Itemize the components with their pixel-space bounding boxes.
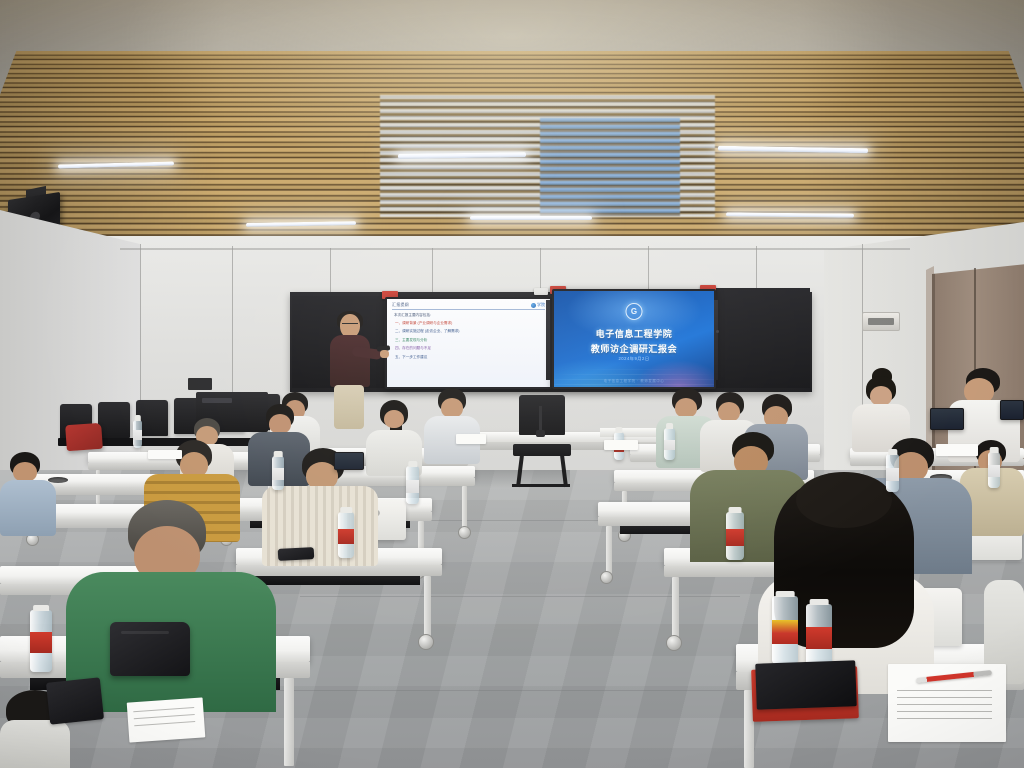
smartphone-left-desk	[278, 547, 315, 561]
ceiling-skylight-blue-reflection	[540, 118, 680, 216]
bottle-cap-icon	[33, 605, 49, 611]
doc-line	[134, 721, 195, 726]
printed-document-front-left-2	[148, 450, 182, 459]
desk-microphone-icon	[539, 406, 542, 432]
attendee-head	[675, 398, 697, 418]
bottle-label	[772, 620, 798, 643]
slide-window-title: 汇报提纲	[392, 302, 409, 308]
bottle-cap-icon	[615, 427, 622, 433]
water-bottle-sidewall	[133, 420, 142, 448]
desk-right-near-1-leg	[606, 526, 612, 574]
water-bottle-6	[886, 454, 899, 492]
laptop-right-desk	[930, 408, 964, 430]
doc-line	[897, 690, 991, 691]
bottle-label	[272, 468, 284, 480]
bottle-cap-icon	[274, 451, 283, 457]
slide-logo: 学院	[531, 302, 545, 308]
bottle-label	[338, 529, 354, 545]
water-bottle-3	[406, 466, 419, 504]
black-laptop-bag	[110, 622, 190, 676]
presenter-glasses-icon	[342, 323, 358, 328]
attendee-head	[718, 402, 740, 422]
wall-seam-3	[330, 248, 331, 294]
bottle-cap-icon	[776, 591, 795, 597]
water-bottle-10	[772, 596, 798, 664]
wall-seam-6	[648, 246, 649, 290]
bottle-label	[30, 632, 52, 653]
water-bottle-5	[726, 512, 744, 560]
bottle-label	[726, 529, 744, 545]
water-bottle-4	[272, 456, 284, 490]
attendee-front-row-mid	[984, 560, 1024, 680]
water-bottle-2	[338, 512, 354, 558]
slide-bullet-1: 一、调研背景 (产业调研与企业需求)	[395, 321, 545, 326]
printed-document-right-mid	[604, 440, 638, 450]
attendee-grey-shirt-left	[424, 388, 480, 460]
black-tablet	[755, 660, 857, 709]
desk-left-mid-2-caster	[458, 526, 471, 539]
wall-air-vent-icon	[862, 312, 900, 331]
bottle-label	[406, 480, 419, 493]
wall-seam-4	[432, 248, 433, 294]
bottle-cap-icon	[666, 423, 674, 429]
attendee-head	[441, 398, 463, 418]
bottle-label	[988, 465, 1000, 477]
slide-logo-text: 学院	[537, 302, 545, 308]
attendee-bun-hair-white	[852, 372, 910, 446]
slide-lead-text: 本次汇报主要内容包括:	[394, 313, 545, 318]
slide-logo-mark-icon	[531, 303, 536, 308]
slide-bullet-5: 五、下一步工作建议	[395, 355, 545, 360]
water-bottle-1	[30, 610, 52, 672]
presenter-hand	[380, 350, 389, 358]
doc-line	[897, 697, 991, 698]
attendee-hair-crown	[796, 472, 892, 528]
wall-horizontal-rail	[120, 248, 910, 250]
attendee-blue-left-far	[0, 452, 56, 532]
wall-mounted-av-box	[188, 378, 212, 390]
laptop-right-far	[1000, 400, 1024, 420]
display-ir-sensor-icon	[716, 330, 719, 333]
classroom-photo-scene: 汇报提纲 学院 本次汇报主要内容包括: 一、调研背景 (产业调研与企业需求) 二…	[0, 0, 1024, 768]
desk-left-mid-2-leg	[462, 486, 467, 528]
doc-line	[133, 707, 194, 712]
laptop-screen	[335, 453, 363, 469]
display-side-strip-left	[546, 300, 550, 380]
slide-footer: 电子信息工程学院 · 教师发展中心	[554, 378, 714, 383]
slide-title-line-1: 电子信息工程学院	[554, 327, 714, 340]
slide-topbar: 汇报提纲 学院	[392, 302, 545, 310]
slide-bullet-3: 三、主要发现与分析	[395, 338, 545, 343]
printed-document-bottom-left	[127, 697, 206, 742]
presenter-chair-foot-bar	[512, 484, 570, 487]
school-emblem-icon: G	[626, 303, 643, 320]
attendee-head	[13, 462, 37, 482]
board-right-panel	[714, 288, 810, 388]
title-slide: G 电子信息工程学院 教师访企调研汇报会 2024年9月2日 电子信息工程学院 …	[554, 291, 714, 387]
presenter-torso	[330, 335, 370, 387]
bottle-cap-icon	[810, 599, 829, 605]
red-bag-on-chair-icon	[65, 423, 103, 451]
attendee-torso	[0, 720, 70, 768]
attendee-head	[384, 410, 404, 428]
bottle-cap-icon	[990, 447, 999, 453]
water-bottle-7	[664, 428, 675, 460]
slide-bullet-2: 二、调研实施过程 (走访企业、了解需求)	[395, 329, 545, 334]
display-side-strip-right	[714, 300, 718, 380]
presenter-legs	[334, 385, 364, 429]
smartphone-bottom-left	[46, 677, 104, 724]
water-bottle-11	[806, 604, 832, 668]
bottle-cap-icon	[888, 449, 897, 455]
bottle-cap-icon	[134, 415, 140, 421]
slide-title-line-2: 教师访企调研汇报会	[554, 342, 714, 355]
doc-line	[134, 714, 195, 719]
floor-tile-line-3	[270, 690, 770, 691]
desk-right-front-1-leg	[672, 577, 679, 639]
bottle-cap-icon	[729, 507, 742, 513]
desk-left-front-1-leg	[424, 576, 431, 638]
printed-document-right-mid-2	[936, 444, 978, 456]
bottle-label	[886, 468, 899, 481]
bottle-label	[133, 430, 142, 440]
left-display-screen[interactable]: 汇报提纲 学院 本次汇报主要内容包括: 一、调研背景 (产业调研与企业需求) 二…	[385, 297, 552, 389]
laptop-screen	[931, 409, 963, 429]
doc-line	[897, 704, 991, 705]
doc-line	[897, 711, 991, 712]
doc-line	[897, 718, 991, 719]
desk-right-near-1-caster	[600, 571, 613, 584]
side-chair-2[interactable]	[98, 402, 130, 438]
slide-date: 2024年9月2日	[554, 356, 714, 362]
wall-seam-2	[232, 246, 233, 396]
ceiling-light-5	[470, 216, 592, 220]
laptop-screen	[1001, 401, 1023, 419]
bottle-label	[664, 440, 675, 451]
board-clip-center-white	[534, 288, 548, 295]
laptop-left-desk	[334, 452, 364, 470]
water-bottle-8	[988, 452, 1000, 488]
bottle-label	[806, 627, 832, 649]
desk-right-front-1-caster	[666, 635, 682, 651]
printed-document-front-left	[456, 434, 486, 444]
desk-left-bottom-leg	[284, 678, 294, 766]
attendee-torso	[0, 480, 56, 536]
outline-slide: 汇报提纲 学院 本次汇报主要内容包括: 一、调研背景 (产业调研与企业需求) 二…	[387, 299, 550, 387]
bottle-cap-icon	[340, 507, 352, 513]
desk-left-front-1-caster	[418, 634, 434, 650]
wall-seam-7	[756, 246, 757, 294]
slide-bullet-4: 四、存在的问题与不足	[395, 346, 545, 351]
presenter-chair-back[interactable]	[519, 395, 565, 435]
attendee-head	[870, 386, 892, 406]
attendee-head	[269, 414, 291, 434]
right-display-screen[interactable]: G 电子信息工程学院 教师访企调研汇报会 2024年9月2日 电子信息工程学院 …	[552, 289, 716, 389]
wall-seam-5	[540, 248, 541, 290]
bottle-cap-icon	[408, 461, 417, 467]
